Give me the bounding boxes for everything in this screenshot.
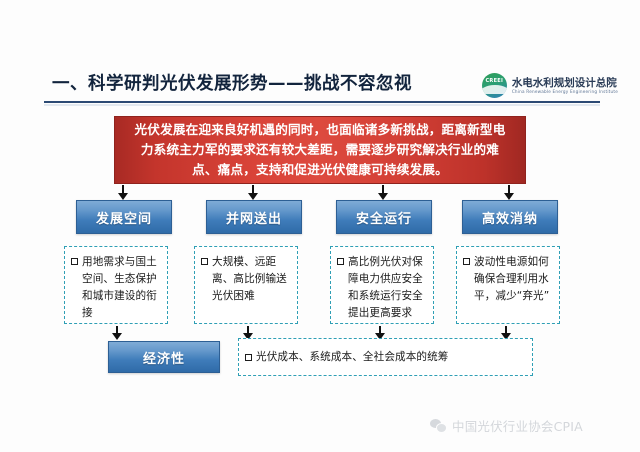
page-title: 一、科学研判光伏发展形势——挑战不容忽视: [52, 72, 412, 96]
column-body-text: 高比例光伏对保障电力供应安全和系统运行安全提出更高要求: [348, 254, 427, 322]
column-body-grid-connection: 大规模、远距离、高比例输送光伏困难: [194, 246, 298, 324]
bullet-square-icon: [201, 258, 208, 265]
key-message-banner: 光伏发展在迎来良好机遇的同时，也面临诸多新挑战，距离新型电力系统主力军的要求还有…: [114, 116, 526, 184]
column-body-text: 波动性电源如何确保合理利用水平，减少“弃光”: [474, 254, 553, 305]
footer-watermark: 中国光伏行业协会CPIA: [430, 416, 583, 435]
wechat-icon: [430, 419, 447, 433]
bullet-square-icon: [245, 354, 252, 361]
arrow-banner-to-column-2: [248, 185, 259, 200]
bottom-body-economics: 光伏成本、系统成本、全社会成本的统筹: [238, 338, 533, 376]
bottom-header-economics[interactable]: 经济性: [108, 341, 220, 373]
arrow-banner-to-column-3: [378, 185, 389, 200]
organization-logo: CREEI 水电水利规划设计总院 China Renewable Energy …: [482, 73, 618, 98]
column-header-development-space[interactable]: 发展空间: [76, 200, 172, 234]
logo-name-en: China Renewable Energy Engineering Insti…: [512, 89, 618, 95]
column-header-grid-connection[interactable]: 并网送出: [206, 200, 302, 234]
column-body-development-space: 用地需求与国土空间、生态保护和城市建设的衔接: [64, 246, 168, 324]
arrow-column-1-to-bottom: [112, 326, 123, 341]
column-header-label: 发展空间: [96, 208, 152, 227]
bottom-body-text: 光伏成本、系统成本、全社会成本的统筹: [256, 349, 449, 366]
column-header-label: 并网送出: [226, 208, 282, 227]
bullet-square-icon: [71, 258, 78, 265]
logo-abbreviation: CREEI: [482, 78, 507, 84]
column-header-label: 安全运行: [356, 208, 412, 227]
logo-text-block: 水电水利规划设计总院 China Renewable Energy Engine…: [512, 77, 618, 95]
arrow-banner-to-column-1: [118, 185, 129, 200]
slide-canvas: 一、科学研判光伏发展形势——挑战不容忽视 CREEI 水电水利规划设计总院 Ch…: [0, 0, 640, 452]
key-message-text: 光伏发展在迎来良好机遇的同时，也面临诸多新挑战，距离新型电力系统主力军的要求还有…: [129, 120, 511, 180]
title-divider-shadow: [44, 104, 600, 106]
column-body-efficient-consumption: 波动性电源如何确保合理利用水平，减少“弃光”: [456, 246, 560, 324]
column-body-text: 用地需求与国土空间、生态保护和城市建设的衔接: [82, 254, 161, 322]
column-body-text: 大规模、远距离、高比例输送光伏困难: [212, 254, 291, 305]
creei-emblem-icon: CREEI: [482, 73, 507, 98]
column-header-label: 高效消纳: [482, 208, 538, 227]
bullet-square-icon: [463, 258, 470, 265]
column-header-safe-operation[interactable]: 安全运行: [336, 200, 432, 234]
column-header-efficient-consumption[interactable]: 高效消纳: [462, 200, 558, 234]
footer-watermark-text: 中国光伏行业协会CPIA: [452, 416, 583, 435]
title-divider: [44, 101, 600, 103]
logo-name-cn: 水电水利规划设计总院: [512, 77, 618, 89]
bullet-square-icon: [337, 258, 344, 265]
arrow-banner-to-column-4: [504, 185, 515, 200]
column-body-safe-operation: 高比例光伏对保障电力供应安全和系统运行安全提出更高要求: [330, 246, 434, 324]
slide-header: 一、科学研判光伏发展形势——挑战不容忽视 CREEI 水电水利规划设计总院 Ch…: [0, 72, 640, 102]
bottom-header-label: 经济性: [143, 348, 185, 367]
